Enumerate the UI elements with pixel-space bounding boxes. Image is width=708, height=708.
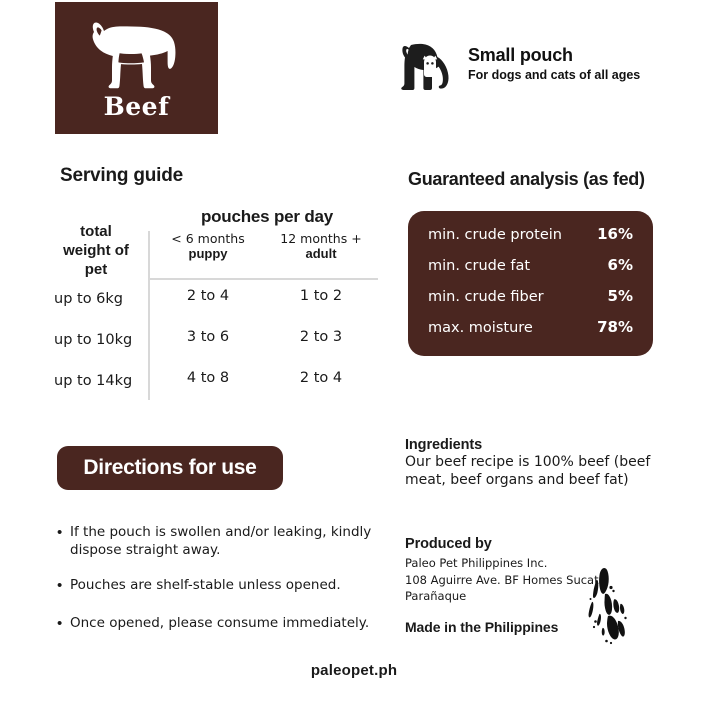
serving-guide-heading: Serving guide	[60, 165, 183, 187]
directions-list: • If the pouch is swollen and/or leaking…	[57, 523, 387, 651]
produced-by-heading: Produced by	[405, 536, 660, 552]
table-cell: 3 to 6	[153, 329, 263, 345]
directions-badge-label: Directions for use	[83, 456, 256, 480]
cow-icon	[81, 18, 193, 90]
list-item: • Pouches are shelf-stable unless opened…	[57, 576, 387, 596]
directions-badge: Directions for use	[57, 446, 283, 490]
beef-label: Beef	[104, 94, 170, 119]
table-horizontal-rule	[148, 278, 378, 280]
list-item: • Once opened, please consume immediatel…	[57, 614, 387, 634]
table-row: up to 10kg	[48, 332, 148, 348]
bullet-icon: •	[57, 576, 70, 596]
serving-guide-table: pouches per day totalweight ofpet < 6 mo…	[48, 205, 378, 400]
analysis-row: min. crude protein 16%	[428, 225, 633, 243]
table-cell: 4 to 8	[153, 370, 263, 386]
list-item: • If the pouch is swollen and/or leaking…	[57, 523, 387, 559]
philippines-map-icon	[578, 566, 640, 646]
pouch-title: Small pouch	[468, 45, 640, 66]
pouches-per-day-header: pouches per day	[156, 207, 378, 227]
website-footer: paleopet.ph	[0, 662, 708, 679]
product-label: Beef Small pouch For dogs and cats of al…	[0, 0, 708, 708]
table-cell: 2 to 3	[266, 329, 376, 345]
bullet-icon: •	[57, 523, 70, 559]
guaranteed-analysis-panel: min. crude protein 16% min. crude fat 6%…	[408, 211, 653, 356]
weight-column-header: totalweight ofpet	[48, 223, 144, 279]
guaranteed-analysis-heading: Guaranteed analysis (as fed)	[408, 169, 645, 190]
column-header-adult: 12 months + adult	[266, 231, 376, 262]
analysis-row: min. crude fiber 5%	[428, 287, 633, 305]
beef-logo-block: Beef	[55, 2, 218, 134]
analysis-row: max. moisture 78%	[428, 318, 633, 336]
pouch-subtitle: For dogs and cats of all ages	[468, 67, 640, 83]
table-cell: 1 to 2	[266, 288, 376, 304]
table-cell: 2 to 4	[153, 288, 263, 304]
bullet-icon: •	[57, 614, 70, 634]
ingredients-heading: Ingredients	[405, 437, 660, 453]
column-header-puppy: < 6 months puppy	[153, 231, 263, 262]
table-row: up to 14kg	[48, 373, 148, 389]
table-vertical-rule	[148, 231, 150, 400]
table-row: up to 6kg	[48, 291, 148, 307]
analysis-row: min. crude fat 6%	[428, 256, 633, 274]
ingredients-body: Our beef recipe is 100% beef (beef meat,…	[405, 454, 660, 490]
dog-and-cat-icon	[400, 36, 454, 92]
table-cell: 2 to 4	[266, 370, 376, 386]
pouch-header: Small pouch For dogs and cats of all age…	[400, 36, 640, 92]
ingredients-section: Ingredients Our beef recipe is 100% beef…	[405, 437, 660, 490]
